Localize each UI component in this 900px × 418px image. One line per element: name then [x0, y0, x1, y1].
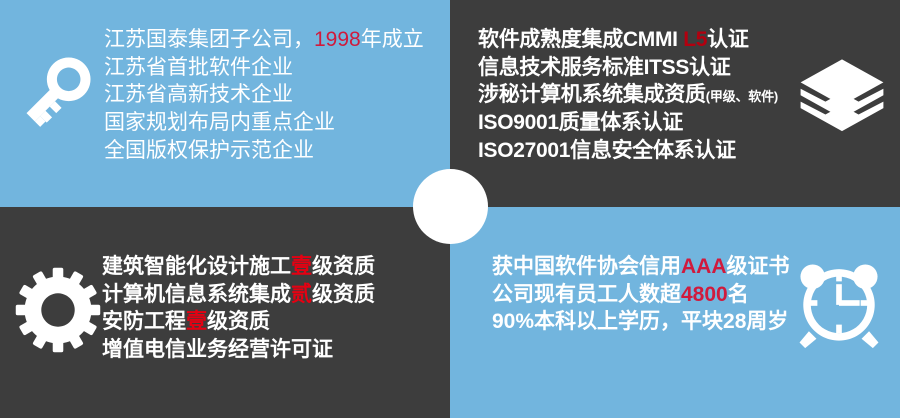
text-block-bottom-right: 获中国软件协会信用AAA级证书 公司现有员工人数超4800名 90%本科以上学历…	[492, 253, 790, 336]
list-item: 增值电信业务经营许可证	[102, 336, 375, 364]
line-text: 信息技术服务标准ITSS认证	[478, 56, 730, 79]
gear-icon	[14, 266, 102, 354]
text-block-top-right: 软件成熟度集成CMMI L5认证 信息技术服务标准ITSS认证 涉秘计算机系统集…	[478, 26, 778, 165]
line-text: 获中国软件协会信用	[492, 255, 681, 278]
line-text: ISO27001信息安全体系认证	[478, 139, 736, 162]
alarm-clock-icon	[792, 256, 886, 350]
list-item: 获中国软件协会信用AAA级证书	[492, 253, 790, 281]
line-text-post: 级资质	[312, 283, 375, 306]
highlight-text: 4800	[681, 283, 728, 306]
list-item: 涉秘计算机系统集成资质(甲级、软件)	[478, 81, 778, 109]
line-note: (甲级、软件)	[706, 89, 778, 104]
highlight-text: 壹	[291, 255, 312, 278]
poster-canvas: 江苏国泰集团子公司，1998年成立 江苏省首批软件企业 江苏省高新技术企业 国家…	[0, 0, 900, 418]
list-item: 建筑智能化设计施工壹级资质	[102, 253, 375, 281]
layers-icon	[796, 52, 888, 144]
line-text: 公司现有员工人数超	[492, 283, 681, 306]
line-text: 软件成熟度集成CMMI	[478, 28, 683, 51]
highlight-text: AAA	[681, 255, 727, 278]
line-text: ISO9001质量体系认证	[478, 111, 683, 134]
list-item: 信息技术服务标准ITSS认证	[478, 54, 778, 82]
list-item: 90%本科以上学历，平块28周岁	[492, 308, 790, 336]
line-text: 90%本科以上学历，平块28周岁	[492, 310, 788, 333]
list-item: ISO27001信息安全体系认证	[478, 137, 778, 165]
line-text-post: 认证	[707, 28, 748, 51]
line-text-post: 年成立	[361, 28, 424, 51]
line-text: 涉秘计算机系统集成资质	[478, 83, 706, 106]
line-text: 江苏省高新技术企业	[104, 83, 293, 106]
list-item: 江苏省高新技术企业	[104, 81, 424, 109]
line-text: 江苏省首批软件企业	[104, 56, 293, 79]
list-item: 江苏省首批软件企业	[104, 54, 424, 82]
list-item: ISO9001质量体系认证	[478, 109, 778, 137]
line-text-post: 级资质	[312, 255, 375, 278]
line-text: 计算机信息系统集成	[102, 283, 291, 306]
line-text: 国家规划布局内重点企业	[104, 111, 335, 134]
highlight-text: 贰	[291, 283, 312, 306]
line-text-post: 名	[728, 283, 749, 306]
list-item: 国家规划布局内重点企业	[104, 109, 424, 137]
highlight-text: 1998	[314, 28, 361, 51]
list-item: 公司现有员工人数超4800名	[492, 281, 790, 309]
line-text: 增值电信业务经营许可证	[102, 338, 333, 361]
center-circle-accent	[413, 169, 488, 244]
list-item: 软件成熟度集成CMMI L5认证	[478, 26, 778, 54]
highlight-text: 壹	[186, 310, 207, 333]
key-icon	[16, 48, 100, 132]
list-item: 全国版权保护示范企业	[104, 137, 424, 165]
line-text-post: 级证书	[727, 255, 790, 278]
line-text: 安防工程	[102, 310, 186, 333]
line-text: 江苏国泰集团子公司，	[104, 28, 314, 51]
list-item: 计算机信息系统集成贰级资质	[102, 281, 375, 309]
text-block-bottom-left: 建筑智能化设计施工壹级资质 计算机信息系统集成贰级资质 安防工程壹级资质 增值电…	[102, 253, 375, 364]
list-item: 安防工程壹级资质	[102, 308, 375, 336]
highlight-text: L5	[683, 28, 707, 51]
line-text: 建筑智能化设计施工	[102, 255, 291, 278]
list-item: 江苏国泰集团子公司，1998年成立	[104, 26, 424, 54]
line-text-post: 级资质	[207, 310, 270, 333]
line-text: 全国版权保护示范企业	[104, 139, 314, 162]
text-block-top-left: 江苏国泰集团子公司，1998年成立 江苏省首批软件企业 江苏省高新技术企业 国家…	[104, 26, 424, 165]
